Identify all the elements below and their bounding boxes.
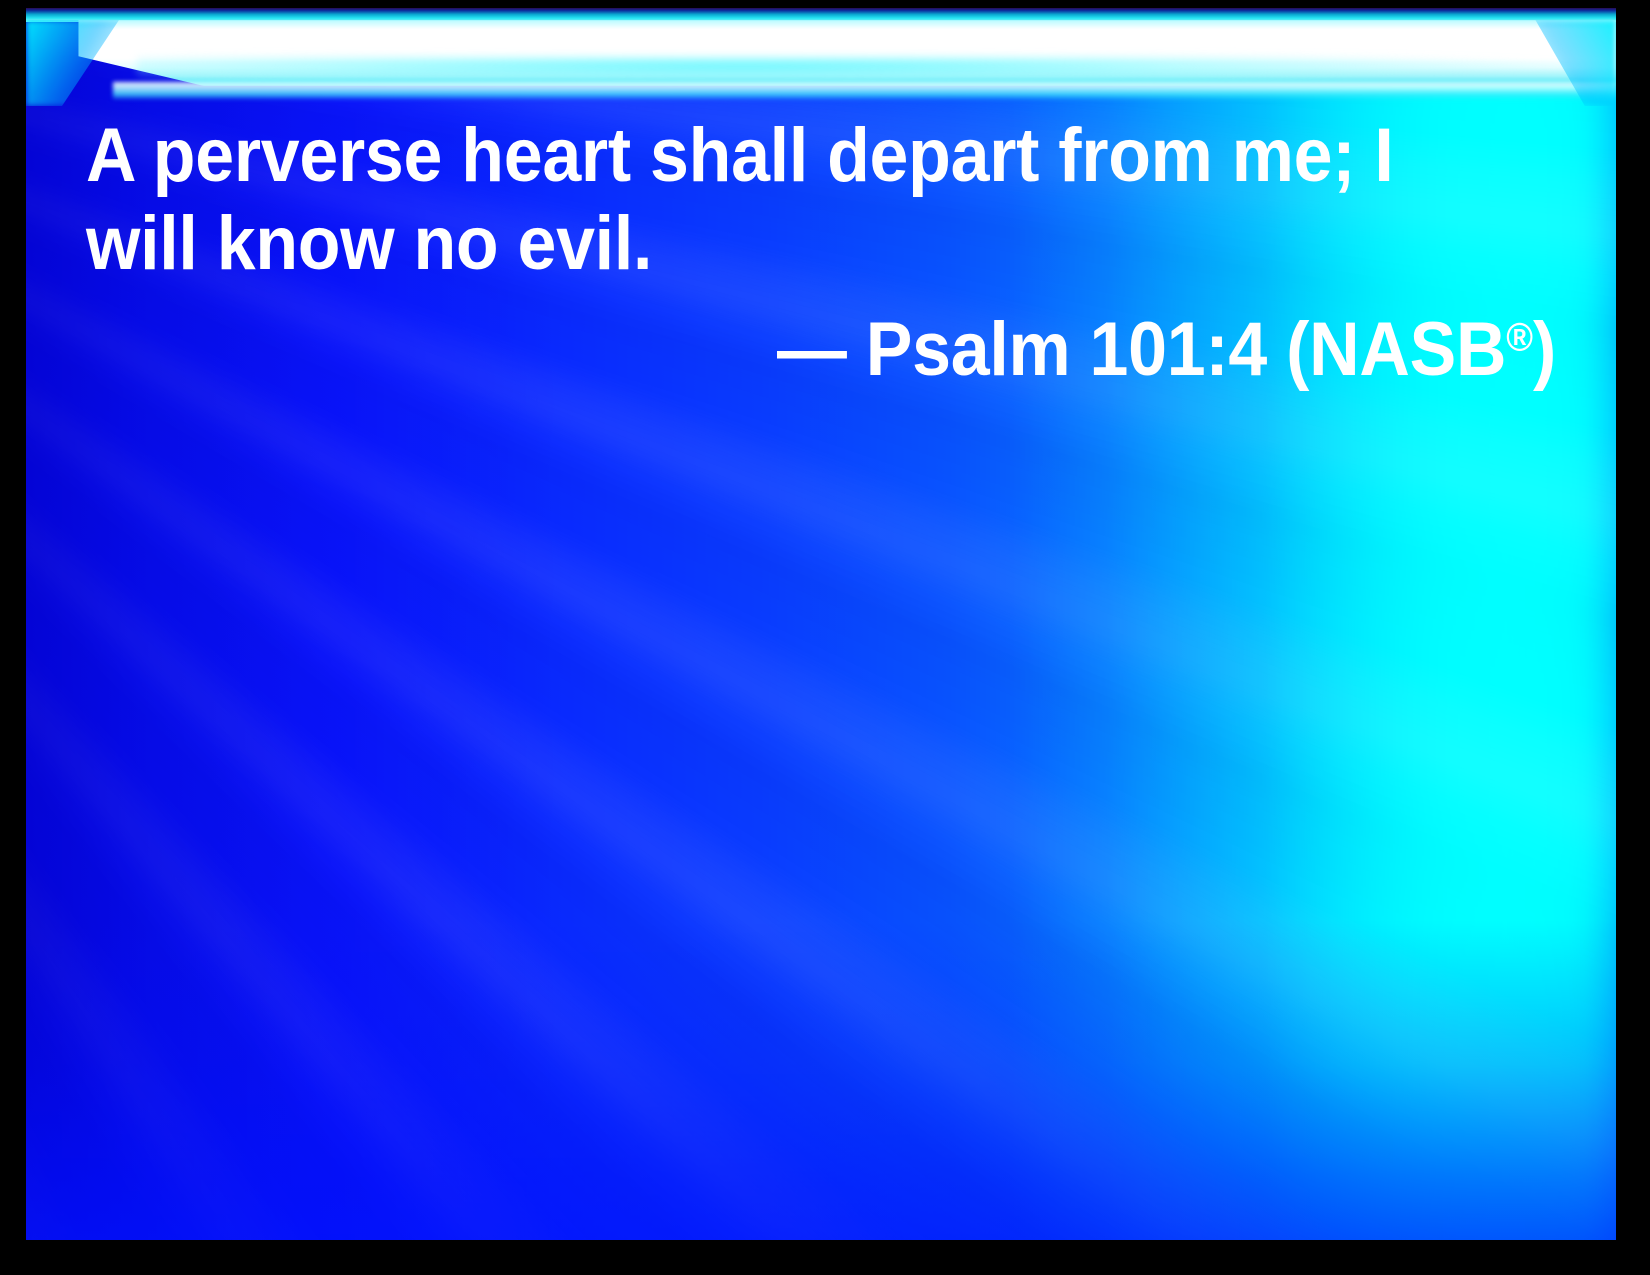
background-bottom-fade (26, 920, 1616, 1240)
attribution-em-dash: — (777, 307, 847, 392)
verse-text-block: A perverse heart shall depart from me; I… (86, 112, 1556, 394)
artwork-canvas: A perverse heart shall depart from me; I… (26, 8, 1616, 1240)
verse-slide: A perverse heart shall depart from me; I… (0, 0, 1650, 1275)
attribution-scripture-reference: Psalm 101:4 (866, 307, 1267, 392)
top-cyan-strip (26, 8, 1616, 22)
attribution-translation-close-paren: ) (1533, 307, 1556, 392)
top-glow-inner-core (137, 56, 1584, 82)
registered-trademark-icon: ® (1506, 316, 1533, 360)
verse-attribution: — Psalm 101:4 (NASB®) (204, 306, 1556, 394)
top-glow-lower-edge (113, 82, 1616, 100)
verse-body-text: A perverse heart shall depart from me; I… (86, 112, 1438, 288)
attribution-translation-open-paren: (NASB (1286, 307, 1506, 392)
